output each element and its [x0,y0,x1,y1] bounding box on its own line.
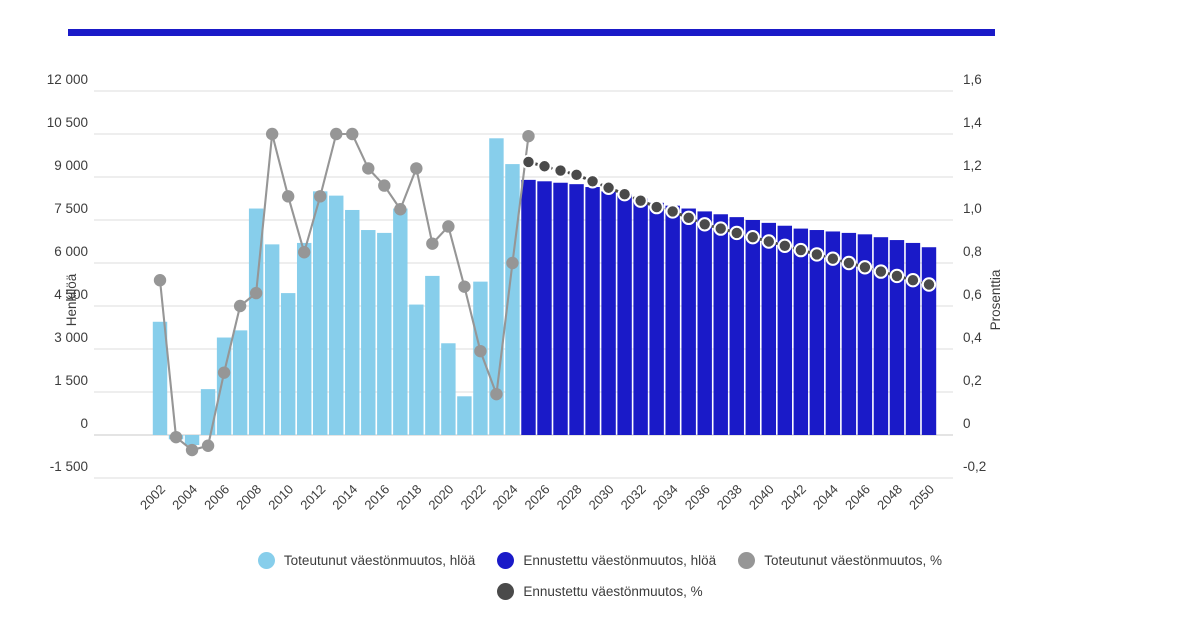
data-point-marker[interactable] [602,182,614,194]
bar[interactable] [537,181,551,435]
data-point-marker[interactable] [522,156,534,168]
legend-label: Toteutunut väestönmuutos, % [764,552,942,569]
y2-axis-tick-label: 1,4 [963,115,982,130]
data-point-marker[interactable] [186,444,198,456]
bar[interactable] [585,187,599,435]
y-axis-tick-label: 6 000 [54,244,88,259]
y2-axis-tick-label: 1,2 [963,158,982,173]
legend-forecast-persons[interactable]: Ennustettu väestönmuutos, hlöä [497,552,716,569]
bar[interactable] [617,194,631,435]
data-point-marker[interactable] [875,265,887,277]
bar[interactable] [329,196,343,435]
bar[interactable] [441,343,455,435]
legend-row: Toteutunut väestönmuutos, hlöäEnnustettu… [0,552,1200,569]
y2-axis-tick-label: 1,0 [963,201,982,216]
data-point-marker[interactable] [362,162,374,174]
bar[interactable] [665,206,679,435]
data-point-marker[interactable] [731,227,743,239]
legend-label: Ennustettu väestönmuutos, hlöä [523,552,716,569]
legend-label: Ennustettu väestönmuutos, % [523,583,702,600]
y-axis-tick-label: 0 [80,416,88,431]
chart-canvas: -1 500-0,2001 5000,23 0000,44 5000,66 00… [0,0,1200,630]
bar[interactable] [746,220,760,435]
data-point-marker[interactable] [170,431,182,443]
x-axis-tick-label: 2026 [522,482,553,513]
bar[interactable] [425,276,439,435]
data-point-marker[interactable] [490,388,502,400]
y-axis-tick-label: 1 500 [54,373,88,388]
legend-forecast-percent[interactable]: Ennustettu väestönmuutos, % [497,583,702,600]
data-point-marker[interactable] [715,222,727,234]
data-point-marker[interactable] [554,164,566,176]
bar[interactable] [297,243,311,435]
x-axis-tick-label: 2014 [329,482,360,513]
data-point-marker[interactable] [666,205,678,217]
bar[interactable] [922,247,936,435]
data-point-marker[interactable] [250,287,262,299]
data-point-marker[interactable] [650,201,662,213]
legend-row: Ennustettu väestönmuutos, % [0,583,1200,600]
x-axis-tick-label: 2024 [490,482,521,513]
data-point-marker[interactable] [522,130,534,142]
bar[interactable] [906,243,920,435]
data-point-marker[interactable] [458,280,470,292]
x-axis-tick-label: 2044 [810,482,841,513]
bar[interactable] [569,184,583,435]
x-axis-tick-label: 2020 [425,482,456,513]
y2-axis-tick-label: 0,4 [963,330,982,345]
data-point-marker[interactable] [538,160,550,172]
data-point-marker[interactable] [699,218,711,230]
data-point-marker[interactable] [859,261,871,273]
y2-axis-tick-label: 0,6 [963,287,982,302]
data-point-marker[interactable] [811,248,823,260]
data-point-marker[interactable] [202,440,214,452]
x-axis-tick-label: 2008 [233,482,264,513]
bar[interactable] [681,209,695,435]
x-axis-tick-label: 2048 [874,482,905,513]
x-axis-tick-label: 2016 [361,482,392,513]
data-point-marker[interactable] [378,179,390,191]
data-point-marker[interactable] [907,274,919,286]
data-point-marker[interactable] [923,278,935,290]
bar[interactable] [281,293,295,435]
bar[interactable] [794,229,808,435]
x-axis-tick-label: 2046 [842,482,873,513]
bar[interactable] [649,203,663,435]
x-axis-tick-label: 2030 [586,482,617,513]
data-point-marker[interactable] [763,235,775,247]
data-point-marker[interactable] [474,345,486,357]
data-point-marker[interactable] [314,190,326,202]
y-axis-tick-label: 9 000 [54,158,88,173]
y-axis-tick-label: 3 000 [54,330,88,345]
legend-swatch-icon [497,552,514,569]
data-point-marker[interactable] [426,237,438,249]
bar[interactable] [601,191,615,435]
x-axis-tick-label: 2012 [297,482,328,513]
bar[interactable] [201,389,215,435]
bar[interactable] [778,226,792,435]
x-axis-tick-label: 2040 [746,482,777,513]
data-point-marker[interactable] [618,188,630,200]
y2-axis-tick-label: 0 [963,416,971,431]
x-axis-tick-label: 2034 [650,482,681,513]
data-point-marker[interactable] [234,300,246,312]
x-axis-tick-label: 2050 [906,482,937,513]
bar[interactable] [361,230,375,435]
data-point-marker[interactable] [843,257,855,269]
data-point-marker[interactable] [682,212,694,224]
data-point-marker[interactable] [506,257,518,269]
bar[interactable] [409,305,423,435]
y-axis-title: Henkilöä [64,273,79,326]
y2-axis-tick-label: 0,2 [963,373,982,388]
bar[interactable] [457,396,471,435]
bar[interactable] [313,191,327,435]
legend-swatch-icon [738,552,755,569]
data-point-marker[interactable] [747,231,759,243]
bar[interactable] [345,210,359,435]
data-point-marker[interactable] [795,244,807,256]
data-point-marker[interactable] [346,128,358,140]
population-change-chart: -1 500-0,2001 5000,23 0000,44 5000,66 00… [0,0,1200,630]
x-axis-tick-label: 2028 [554,482,585,513]
y-axis-tick-label: 12 000 [47,72,88,87]
data-point-marker[interactable] [442,220,454,232]
bar[interactable] [185,435,199,445]
y-axis-tick-label: 7 500 [54,201,88,216]
data-point-marker[interactable] [154,274,166,286]
x-axis-tick-label: 2032 [618,482,649,513]
legend-swatch-icon [497,583,514,600]
data-point-marker[interactable] [410,162,422,174]
x-axis-tick-label: 2018 [393,482,424,513]
bar[interactable] [730,217,744,435]
y2-axis-tick-label: -0,2 [963,459,986,474]
y2-axis-title: Prosenttia [988,269,1003,330]
x-axis-tick-label: 2006 [201,482,232,513]
y-axis-tick-label: -1 500 [50,459,88,474]
legend-actual-percent[interactable]: Toteutunut väestönmuutos, % [738,552,942,569]
data-point-marker[interactable] [779,240,791,252]
bar[interactable] [762,223,776,435]
legend-swatch-icon [258,552,275,569]
legend-label: Toteutunut väestönmuutos, hlöä [284,552,475,569]
bar[interactable] [233,330,247,435]
y2-axis-tick-label: 0,8 [963,244,982,259]
bar[interactable] [697,211,711,435]
legend-actual-persons[interactable]: Toteutunut väestönmuutos, hlöä [258,552,475,569]
x-axis-tick-label: 2038 [714,482,745,513]
data-point-marker[interactable] [394,203,406,215]
x-axis-tick-label: 2042 [778,482,809,513]
bar[interactable] [377,233,391,435]
data-point-marker[interactable] [586,175,598,187]
x-axis-tick-label: 2010 [265,482,296,513]
data-point-marker[interactable] [282,190,294,202]
x-axis-tick-label: 2022 [457,482,488,513]
bar[interactable] [553,183,567,435]
data-point-marker[interactable] [891,270,903,282]
data-point-marker[interactable] [218,366,230,378]
bar[interactable] [265,244,279,435]
x-axis-tick-label: 2004 [169,482,200,513]
data-point-marker[interactable] [266,128,278,140]
bar[interactable] [633,199,647,436]
bar[interactable] [714,214,728,435]
bar[interactable] [393,209,407,435]
data-point-marker[interactable] [298,246,310,258]
bar[interactable] [473,282,487,435]
data-point-marker[interactable] [827,253,839,265]
data-point-marker[interactable] [330,128,342,140]
bar[interactable] [521,180,535,435]
chart-legend: Toteutunut väestönmuutos, hlöäEnnustettu… [0,552,1200,600]
data-point-marker[interactable] [570,169,582,181]
y-axis-tick-label: 10 500 [47,115,88,130]
y2-axis-tick-label: 1,6 [963,72,982,87]
data-point-marker[interactable] [634,194,646,206]
x-axis-tick-label: 2036 [682,482,713,513]
x-axis-tick-label: 2002 [137,482,168,513]
